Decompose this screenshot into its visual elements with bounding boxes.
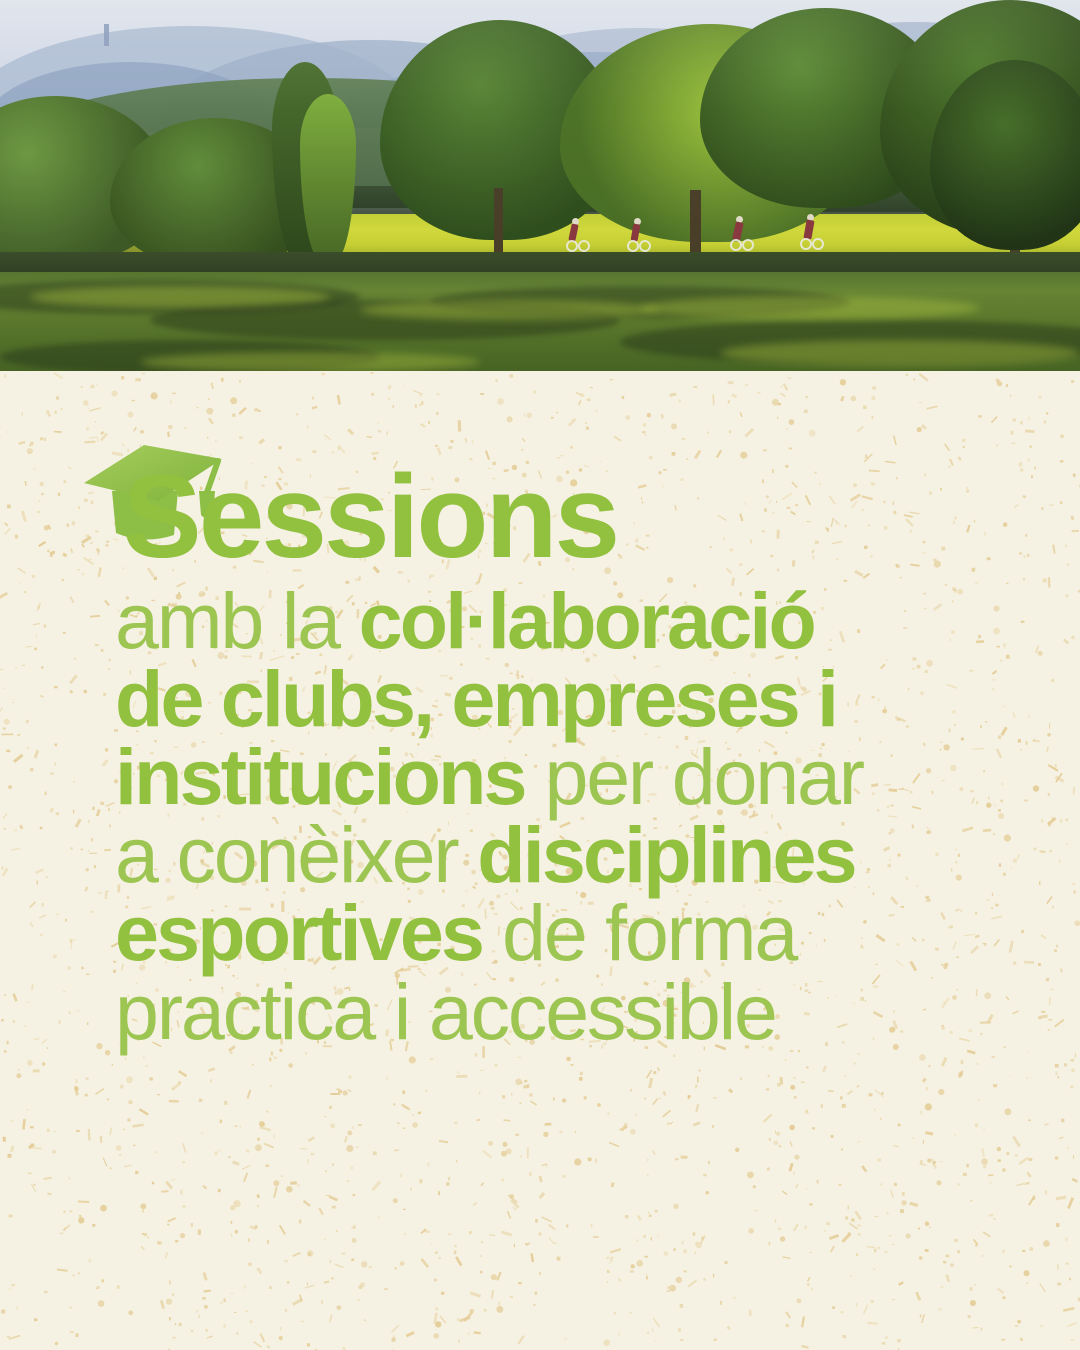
cyclist — [730, 216, 754, 254]
page-title: Sessions — [123, 463, 945, 572]
sunlight-patch — [140, 352, 480, 371]
text-content: Sessions amb la col·laboracióde clubs, e… — [115, 441, 945, 1051]
body-emphasis: disciplines — [477, 810, 855, 899]
body-copy: amb la col·laboracióde clubs, empreses i… — [115, 582, 945, 1051]
poster-root: Sessions amb la col·laboracióde clubs, e… — [0, 0, 1080, 1350]
sunlight-patch — [720, 340, 1080, 366]
cyclist — [800, 214, 824, 254]
cyclist — [566, 218, 590, 254]
body-line: esportives de forma — [115, 894, 945, 972]
sunlight-patch — [30, 286, 330, 308]
sunlight-patch — [360, 300, 660, 320]
body-line: institucions per donar — [115, 738, 945, 816]
sunlight-patch — [640, 296, 980, 320]
body-emphasis: esportives — [115, 888, 482, 977]
body-line: a conèixer disciplines — [115, 816, 945, 894]
landscape-photo — [0, 0, 1080, 371]
body-emphasis: institucions — [115, 732, 525, 821]
body-line: practica i accessible — [115, 973, 945, 1051]
tree-trunk — [690, 190, 701, 256]
hilltop-tower — [104, 24, 109, 46]
text-panel: Sessions amb la col·laboracióde clubs, e… — [0, 371, 1080, 1350]
tree-trunk — [494, 188, 503, 254]
body-text: per donar — [525, 732, 863, 821]
body-emphasis: de clubs, empreses i — [115, 654, 836, 743]
body-text: practica i accessible — [115, 967, 776, 1056]
body-text: amb la — [115, 576, 359, 665]
body-emphasis: col·laboració — [359, 576, 814, 665]
cyclist — [627, 218, 651, 254]
body-text: de forma — [482, 888, 796, 977]
body-line: de clubs, empreses i — [115, 660, 945, 738]
body-text: a conèixer — [115, 810, 477, 899]
body-line: amb la col·laboració — [115, 582, 945, 660]
